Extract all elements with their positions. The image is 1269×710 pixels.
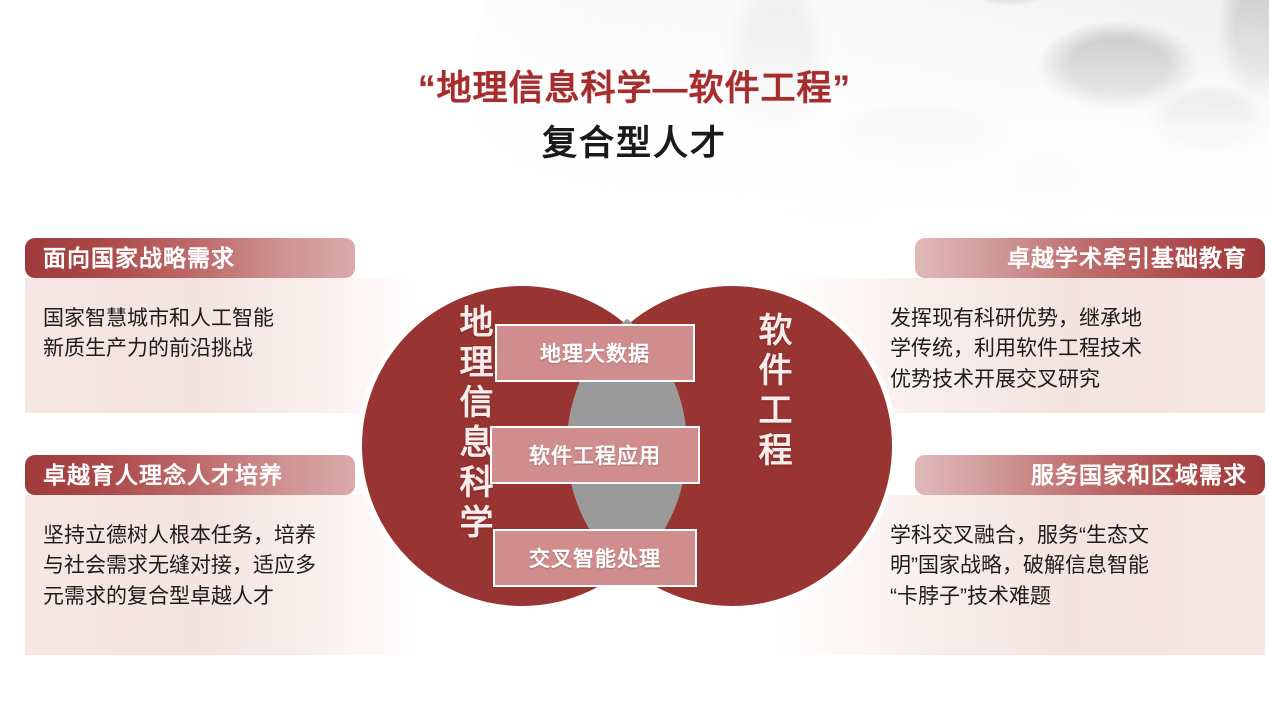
- venn-diagram: 地理信息科学 软件工程 地理大数据 软件工程应用 交叉智能处理: [355, 274, 910, 618]
- panel-bottom-right-banner: 服务国家和区域需求: [915, 455, 1265, 495]
- slide-title-line2: 复合型人才: [0, 115, 1269, 166]
- slide-title-line1: “地理信息科学—软件工程”: [0, 60, 1269, 111]
- venn-item-1: 地理大数据: [495, 324, 695, 382]
- slide-canvas: “地理信息科学—软件工程” 复合型人才 面向国家战略需求 国家智慧城市和人工智能…: [0, 0, 1269, 710]
- venn-right-label: 软件工程: [755, 312, 789, 527]
- panel-top-right-banner: 卓越学术牵引基础教育: [915, 238, 1265, 278]
- venn-left-label: 地理信息科学: [456, 304, 490, 574]
- panel-bottom-left-banner: 卓越育人理念人才培养: [25, 455, 355, 495]
- panel-top-left-banner: 面向国家战略需求: [25, 238, 355, 278]
- venn-item-3: 交叉智能处理: [493, 529, 697, 587]
- venn-item-2: 软件工程应用: [490, 426, 700, 484]
